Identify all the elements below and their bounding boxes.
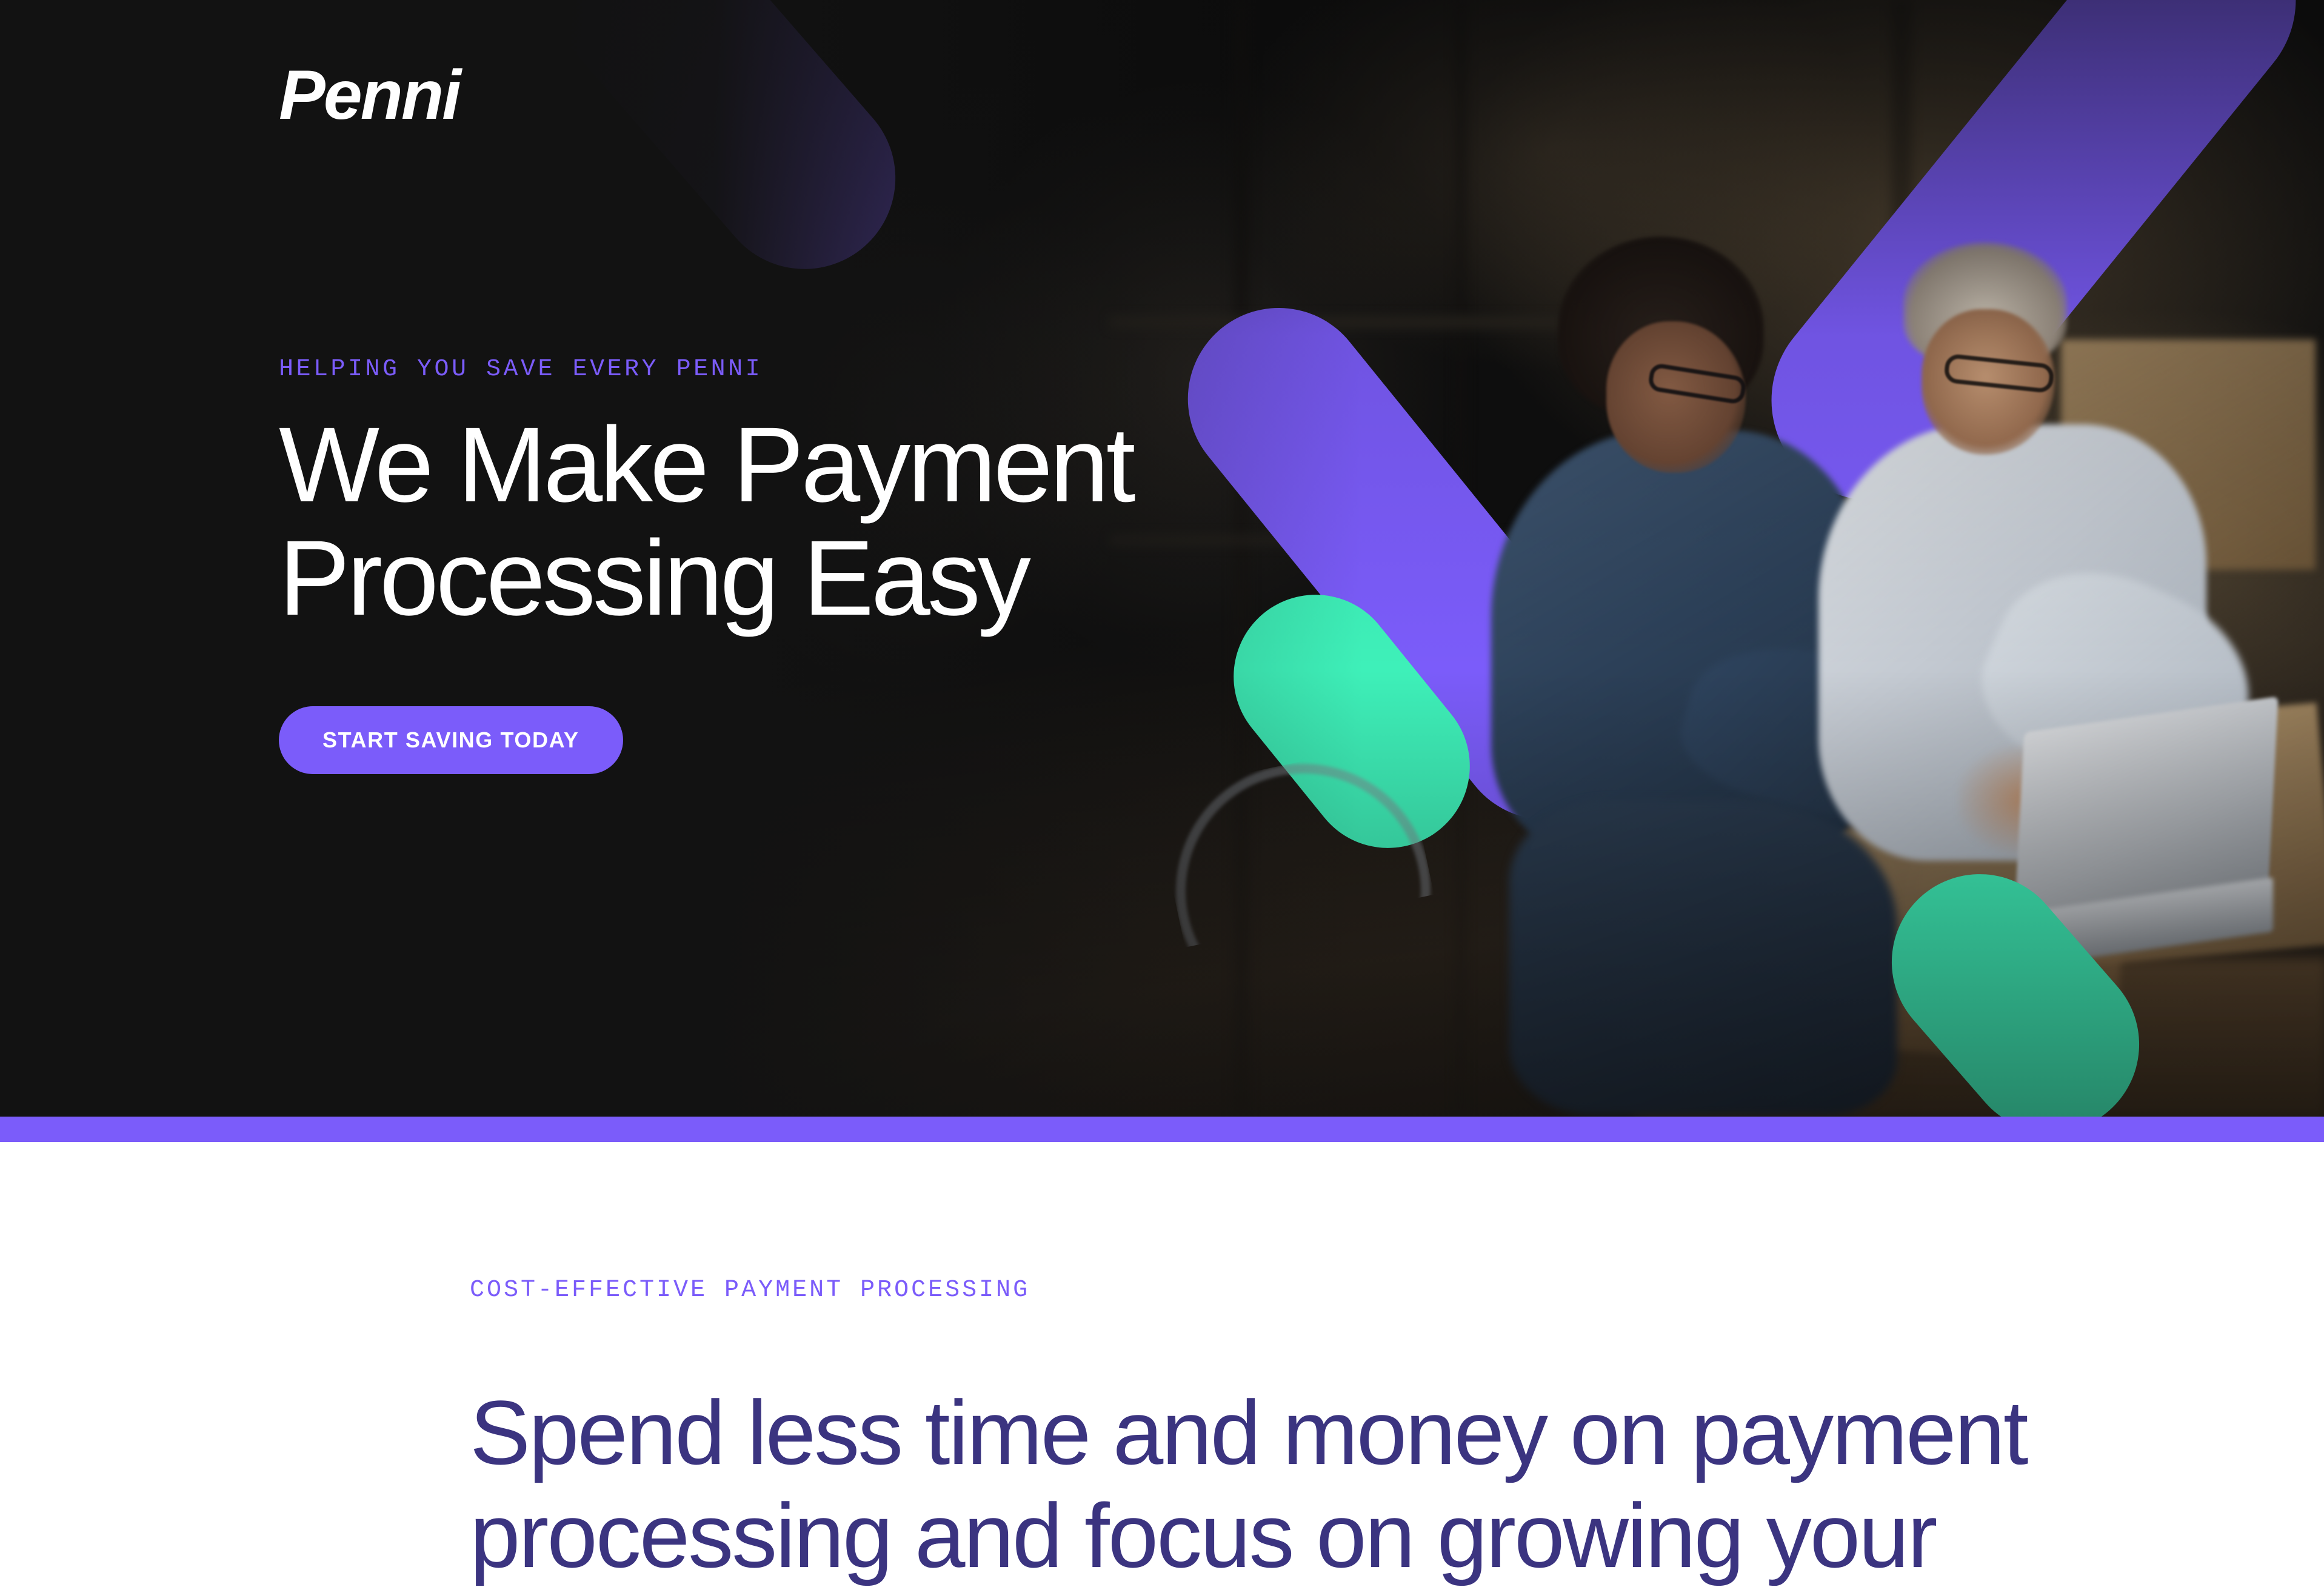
start-saving-today-button[interactable]: START SAVING TODAY — [279, 706, 623, 774]
hero-section: Penni HELPING YOU SAVE EVERY PENNI We Ma… — [0, 0, 2324, 1117]
cost-effective-section: COST-EFFECTIVE PAYMENT PROCESSING Spend … — [0, 1142, 2324, 1500]
hero-eyebrow: HELPING YOU SAVE EVERY PENNI — [279, 356, 1431, 383]
section2-heading: Spend less time and money on payment pro… — [470, 1382, 2167, 1587]
hero-copy-block: Penni HELPING YOU SAVE EVERY PENNI We Ma… — [279, 61, 1431, 774]
section2-copy-block: COST-EFFECTIVE PAYMENT PROCESSING Spend … — [470, 1277, 2167, 1587]
hero-heading-line-2: Processing Easy — [279, 519, 1028, 638]
section-divider-bar — [0, 1117, 2324, 1142]
penni-logo[interactable]: Penni — [279, 61, 1431, 130]
hero-heading-line-1: We Make Payment — [279, 406, 1133, 524]
section2-eyebrow: COST-EFFECTIVE PAYMENT PROCESSING — [470, 1277, 2167, 1304]
hero-heading: We Make Payment Processing Easy — [279, 409, 1431, 635]
section2-heading-line-1: Spend less time and money on payment — [470, 1382, 2027, 1483]
